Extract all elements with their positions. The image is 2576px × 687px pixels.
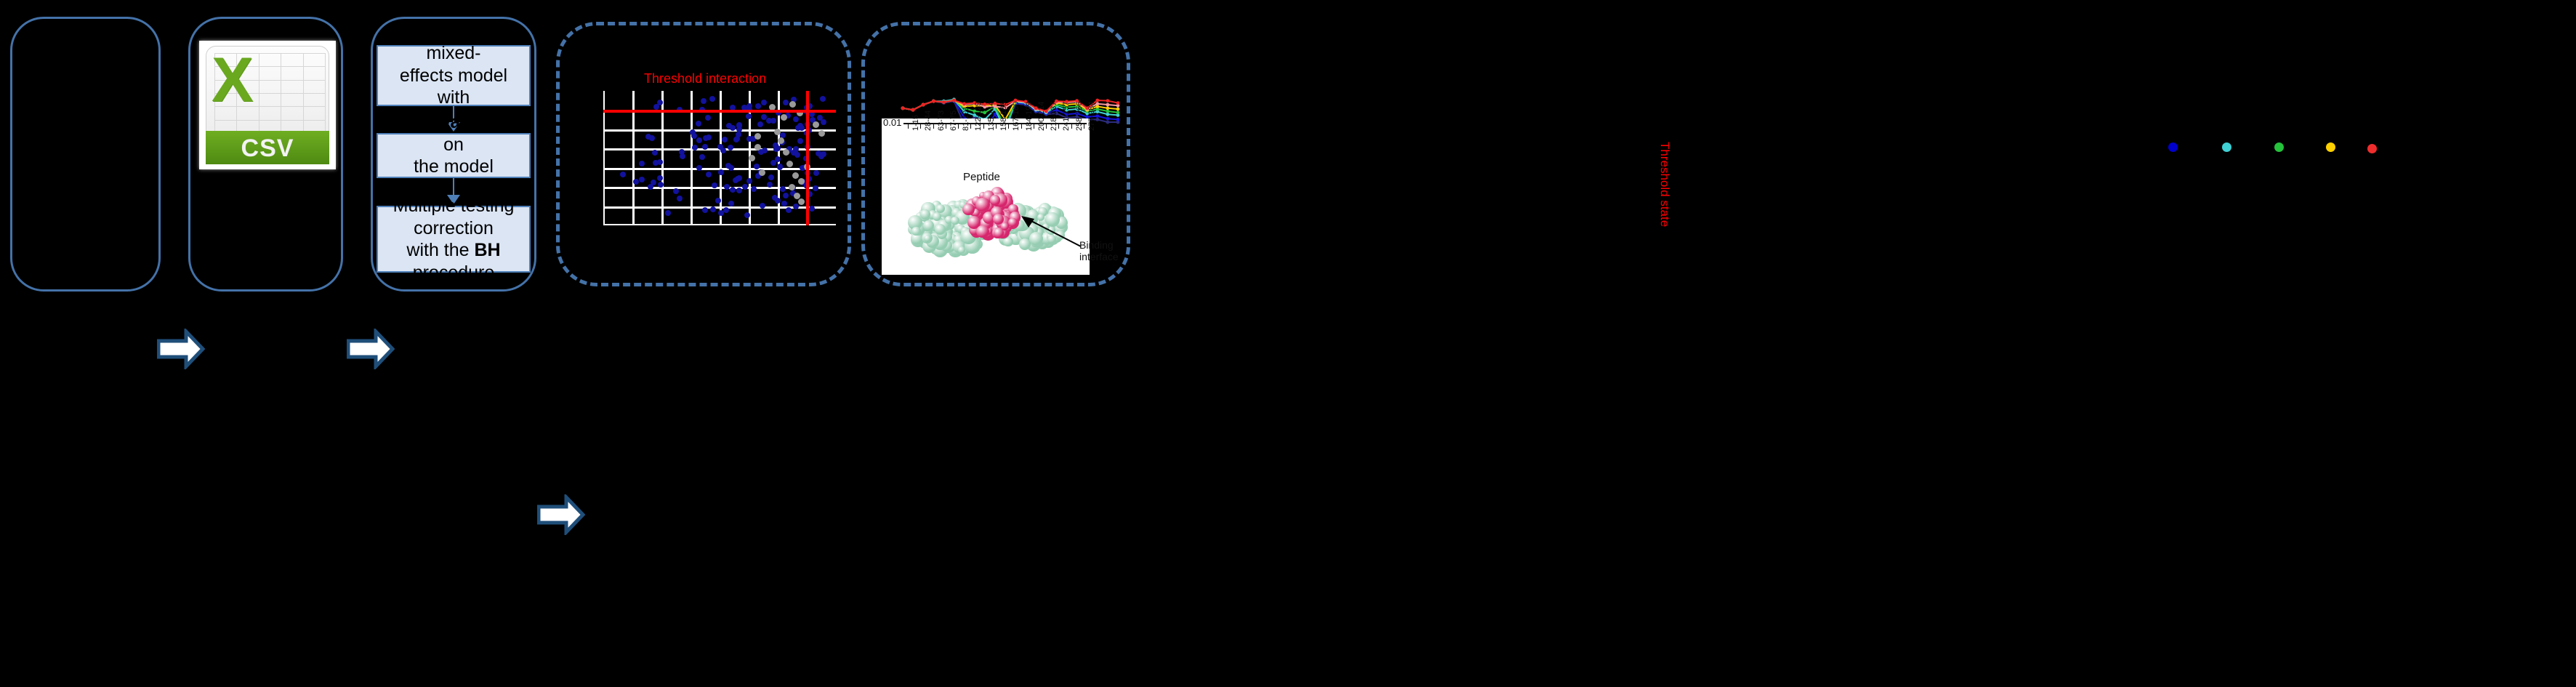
step-box-reml: Fit a linear mixed- effects model with R… bbox=[377, 45, 531, 106]
chart-marker bbox=[1095, 99, 1099, 103]
scatter-point-significant bbox=[652, 150, 658, 156]
step-box-bh: Multiple testing correction with the BH … bbox=[377, 206, 531, 273]
scatter-point-nonsignificant bbox=[774, 129, 781, 135]
scatter-point-nonsignificant bbox=[786, 161, 793, 167]
chart-marker bbox=[1106, 117, 1110, 121]
scatter-point-significant bbox=[648, 184, 653, 190]
step2-bold: Wald tests bbox=[434, 112, 524, 132]
scatter-point-significant bbox=[783, 193, 789, 198]
scatter-point-significant bbox=[633, 179, 639, 185]
scatter-point-significant bbox=[679, 149, 685, 155]
x-axis-title: Peptide bbox=[963, 171, 1000, 183]
scatter-point-nonsignificant bbox=[749, 155, 755, 161]
scatter-point-nonsignificant bbox=[798, 198, 805, 205]
scatter-point-significant bbox=[780, 186, 786, 192]
scatter-point-significant bbox=[760, 203, 765, 209]
scatter-point-significant bbox=[762, 148, 768, 153]
scatter-point-significant bbox=[709, 96, 715, 102]
excel-x-glyph: X bbox=[212, 49, 253, 111]
x-axis-tick-label: 122-129 bbox=[974, 102, 983, 131]
scatter-point-significant bbox=[620, 172, 626, 177]
csv-grid-line bbox=[214, 120, 325, 121]
scatter-point-nonsignificant bbox=[781, 114, 787, 121]
scatter-point-significant bbox=[742, 184, 748, 190]
chart-marker bbox=[1116, 108, 1120, 111]
chart-legend-dot bbox=[2274, 142, 2284, 152]
step2-post: on bbox=[443, 134, 464, 155]
scatter-point-significant bbox=[728, 165, 734, 171]
scatter-point-significant bbox=[677, 196, 683, 201]
step3-line1: Multiple testing bbox=[393, 196, 515, 216]
scatter-point-significant bbox=[746, 113, 752, 119]
x-axis-tick bbox=[933, 124, 934, 129]
scatter-point-significant bbox=[722, 137, 728, 142]
scatter-point-significant bbox=[781, 201, 787, 206]
scatter-point-significant bbox=[653, 104, 659, 110]
volcano-title: Threshold interaction bbox=[644, 71, 766, 87]
chart-marker bbox=[932, 100, 935, 103]
ligand-surface-blob bbox=[976, 225, 989, 238]
protein-surface-blob bbox=[935, 224, 946, 235]
csv-grid-line bbox=[281, 53, 281, 133]
chart-marker bbox=[1116, 118, 1120, 121]
arrow-csv-to-model bbox=[347, 329, 395, 369]
scatter-point-significant bbox=[649, 135, 655, 141]
csv-grid-line bbox=[325, 53, 326, 133]
scatter-point-significant bbox=[696, 137, 702, 143]
scatter-point-significant bbox=[699, 154, 705, 160]
x-axis-tick-label: 167-180 bbox=[1012, 102, 1021, 131]
scatter-point-significant bbox=[728, 145, 733, 150]
scatter-point-nonsignificant bbox=[798, 178, 805, 185]
step-box-wald: Apply Wald tests on the model parameters bbox=[377, 133, 531, 178]
scatter-point-significant bbox=[724, 184, 730, 190]
x-axis-tick bbox=[1034, 124, 1034, 129]
x-axis-tick bbox=[920, 124, 921, 129]
binding-interface-label: Bindinginterface bbox=[1079, 239, 1119, 262]
x-axis-tick-label: 184-199 bbox=[1025, 102, 1034, 131]
peptide-axis-and-structure-card: 0.011-1528-4463-7367-7581-101122-129135-… bbox=[882, 118, 1090, 275]
chart-marker bbox=[942, 100, 946, 104]
scatter-point-significant bbox=[783, 100, 789, 105]
scatter-point-nonsignificant bbox=[792, 172, 799, 179]
scatter-point-significant bbox=[793, 116, 799, 122]
chart-marker bbox=[1106, 103, 1110, 107]
csv-file-icon: X CSV bbox=[199, 41, 336, 169]
chart-marker bbox=[1106, 113, 1110, 116]
scatter-point-significant bbox=[728, 201, 734, 206]
chart-marker bbox=[911, 108, 915, 112]
scatter-point-nonsignificant bbox=[813, 121, 819, 128]
chart-marker bbox=[1095, 118, 1099, 121]
scatter-point-significant bbox=[777, 164, 783, 170]
chart-marker bbox=[1106, 121, 1110, 124]
scatter-point-significant bbox=[715, 198, 721, 204]
scatter-point-significant bbox=[751, 186, 757, 192]
binding-interface-label-line1: Binding bbox=[1079, 239, 1119, 251]
scatter-point-nonsignificant bbox=[759, 169, 765, 176]
step3-bold: BH bbox=[475, 240, 501, 260]
y-axis-tick-label: 0.01 bbox=[883, 117, 901, 128]
scatter-point-significant bbox=[797, 138, 803, 144]
x-axis-tick bbox=[1046, 124, 1047, 129]
scatter-point-significant bbox=[710, 206, 716, 212]
scatter-point-significant bbox=[809, 206, 815, 212]
chart-legend-dot bbox=[2168, 142, 2178, 152]
x-axis-tick bbox=[996, 124, 997, 129]
chart-marker bbox=[922, 103, 925, 107]
chart-marker bbox=[1095, 114, 1099, 118]
scatter-point-significant bbox=[821, 119, 826, 125]
arrow-input-to-csv bbox=[157, 329, 205, 369]
csv-grid-line bbox=[303, 53, 304, 133]
scatter-point-significant bbox=[723, 207, 729, 213]
scatter-point-significant bbox=[730, 187, 736, 193]
scatter-point-significant bbox=[726, 123, 732, 129]
scatter-point-significant bbox=[658, 182, 664, 188]
scatter-point-nonsignificant bbox=[754, 133, 761, 140]
step1-line1: Fit a linear mixed- bbox=[411, 21, 496, 64]
scatter-point-significant bbox=[696, 165, 702, 171]
chart-marker bbox=[1106, 106, 1110, 110]
x-axis-tick-label: 67-75 bbox=[949, 111, 958, 131]
step3-line2: correction bbox=[414, 218, 494, 238]
x-axis-tick bbox=[970, 124, 971, 129]
scatter-point-significant bbox=[639, 161, 645, 166]
x-axis-tick bbox=[908, 124, 909, 129]
scatter-point-nonsignificant bbox=[818, 130, 825, 137]
csv-label: CSV bbox=[206, 134, 329, 163]
protein-surface-blob bbox=[933, 212, 941, 221]
protein-surface-blob bbox=[936, 204, 945, 213]
scatter-point-significant bbox=[754, 164, 760, 169]
chart-marker bbox=[1116, 111, 1120, 114]
scatter-point-nonsignificant bbox=[754, 144, 761, 150]
x-axis-tick-label: 158-166 bbox=[999, 102, 1008, 131]
scatter-point-significant bbox=[746, 178, 752, 184]
scatter-point-significant bbox=[794, 152, 800, 158]
scatter-point-significant bbox=[757, 121, 763, 127]
scatter-point-significant bbox=[706, 134, 712, 140]
threshold-state-line bbox=[806, 91, 809, 225]
ligand-surface-blob bbox=[975, 198, 989, 212]
x-axis-tick-label: 28-44 bbox=[924, 111, 933, 131]
scatter-point-significant bbox=[744, 212, 750, 218]
threshold-state-label: Threshold state bbox=[1657, 142, 1672, 227]
scatter-point-significant bbox=[702, 207, 708, 213]
chart-legend-dot bbox=[2222, 142, 2231, 152]
scatter-point-significant bbox=[767, 182, 773, 188]
ligand-surface-blob bbox=[994, 228, 1005, 238]
scatter-point-significant bbox=[734, 136, 740, 142]
connector-2 bbox=[453, 178, 454, 196]
x-axis-tick-label: 277-284 bbox=[1087, 102, 1096, 131]
protein-surface-blob bbox=[951, 217, 959, 225]
chart-marker bbox=[1106, 99, 1110, 103]
x-axis-tick-label: 200-214 bbox=[1037, 102, 1046, 131]
chart-marker bbox=[1106, 110, 1110, 113]
threshold-interaction-line bbox=[603, 110, 836, 113]
scatter-point-significant bbox=[657, 159, 663, 165]
chart-marker bbox=[983, 111, 986, 114]
scatter-point-significant bbox=[705, 115, 711, 121]
binding-interface-label-line2: interface bbox=[1079, 251, 1119, 262]
x-axis-tick-label: 258-266 bbox=[1075, 102, 1084, 131]
x-axis-tick bbox=[1008, 124, 1009, 129]
x-axis-tick bbox=[1084, 124, 1084, 129]
scatter-point-significant bbox=[813, 185, 818, 191]
plot-axis bbox=[603, 224, 836, 225]
csv-grid-line bbox=[259, 53, 259, 133]
x-axis-tick bbox=[958, 124, 959, 129]
scatter-point-significant bbox=[696, 121, 701, 126]
x-axis-tick-label: 218-237 bbox=[1050, 102, 1058, 131]
x-axis-tick bbox=[1071, 124, 1072, 129]
chart-legend-dot bbox=[2367, 144, 2377, 153]
scatter-point-nonsignificant bbox=[778, 137, 784, 144]
x-axis-tick-label: 81-101 bbox=[962, 106, 970, 131]
x-axis-tick-label: 135-144 bbox=[987, 102, 996, 131]
x-axis-tick bbox=[946, 124, 946, 129]
scatter-point-significant bbox=[786, 207, 792, 213]
scatter-point-significant bbox=[706, 172, 712, 177]
scatter-point-significant bbox=[821, 151, 826, 157]
scatter-point-significant bbox=[773, 146, 779, 152]
scatter-point-significant bbox=[736, 188, 742, 193]
scatter-point-significant bbox=[761, 100, 767, 105]
scatter-point-significant bbox=[736, 123, 742, 129]
scatter-point-nonsignificant bbox=[789, 101, 796, 108]
scatter-point-significant bbox=[639, 177, 645, 182]
volcano-scatter-plot bbox=[603, 91, 836, 225]
step2-pre: Apply bbox=[383, 112, 433, 132]
x-axis-tick bbox=[983, 124, 984, 129]
scatter-point-significant bbox=[775, 156, 781, 162]
scatter-point-nonsignificant bbox=[789, 184, 795, 190]
step1-line2: effects model with bbox=[400, 65, 507, 108]
x-axis-tick-label: 241-257 bbox=[1062, 102, 1071, 131]
protein-surface-blob bbox=[924, 235, 931, 242]
x-axis-tick-label: 1-15 bbox=[911, 115, 920, 131]
x-axis-tick bbox=[1021, 124, 1022, 129]
arrow-model-to-volcano bbox=[537, 494, 585, 535]
chart-marker bbox=[901, 106, 905, 110]
scatter-point-significant bbox=[755, 103, 761, 109]
chart-marker bbox=[952, 99, 956, 103]
chart-marker bbox=[962, 102, 966, 105]
scatter-point-significant bbox=[736, 175, 742, 181]
chart-marker bbox=[1095, 102, 1099, 105]
scatter-point-nonsignificant bbox=[783, 149, 789, 156]
chart-marker bbox=[983, 103, 986, 106]
scatter-point-significant bbox=[775, 198, 781, 204]
scatter-point-significant bbox=[813, 170, 819, 176]
scatter-point-significant bbox=[768, 174, 774, 180]
step3-pre: with the bbox=[406, 240, 474, 260]
x-axis-tick bbox=[1058, 124, 1059, 129]
protein-surface-blob bbox=[920, 209, 930, 220]
scatter-point-significant bbox=[673, 188, 679, 194]
empty-panel bbox=[10, 17, 161, 292]
chart-legend-dot bbox=[2326, 142, 2335, 152]
scatter-point-significant bbox=[701, 98, 707, 104]
scatter-point-significant bbox=[820, 96, 826, 102]
scatter-point-significant bbox=[770, 118, 776, 124]
scatter-point-significant bbox=[718, 169, 724, 175]
step3-post: procedure bbox=[413, 262, 495, 283]
scatter-point-significant bbox=[702, 144, 708, 150]
scatter-point-significant bbox=[665, 210, 671, 216]
x-axis-tick-label: 63-73 bbox=[937, 111, 946, 131]
chart-marker bbox=[1116, 101, 1120, 105]
